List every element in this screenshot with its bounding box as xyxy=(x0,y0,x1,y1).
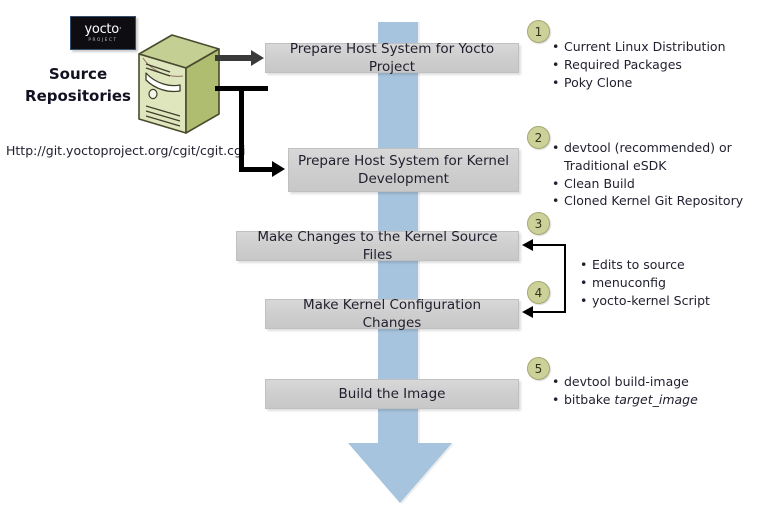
step-number-5: 5 xyxy=(527,357,550,380)
note-item: Poky Clone xyxy=(552,74,762,92)
feedback-vertical xyxy=(564,244,566,313)
step-number-2: 2 xyxy=(527,126,550,149)
note-item: Current Linux Distribution xyxy=(552,38,762,56)
note-item: bitbake target_image xyxy=(552,391,752,409)
step-label-1: Prepare Host System for Yocto Project xyxy=(274,40,510,76)
step-label-5: Build the Image xyxy=(339,385,446,403)
step-label-3: Make Changes to the Kernel Source Files xyxy=(245,228,510,264)
step-label-2: Prepare Host System for Kernel Developme… xyxy=(297,152,510,188)
step-number-1: 1 xyxy=(527,20,550,43)
step-box-5[interactable]: Build the Image xyxy=(265,379,519,409)
notes-step-2: devtool (recommended) or Traditional eSD… xyxy=(552,139,764,210)
note-item: Clean Build xyxy=(552,175,764,193)
note-command-arg: target_image xyxy=(614,392,697,407)
source-repositories-url: Http://git.yoctoproject.org/cgit/cgit.cg… xyxy=(6,143,245,158)
arrowhead-server-to-step2 xyxy=(272,161,285,177)
feedback-top-horizontal xyxy=(532,244,566,246)
flow-arrow-head xyxy=(348,443,452,503)
step-number-4: 4 xyxy=(527,281,550,304)
diagram-canvas: yocto· PROJECT Source Repositories Http:… xyxy=(0,0,769,517)
source-repositories-label: Source Repositories xyxy=(18,64,138,108)
step-number-3: 3 xyxy=(527,212,550,235)
yocto-project-logo: yocto· PROJECT xyxy=(70,16,136,50)
yocto-logo-word: yocto· xyxy=(85,23,122,36)
note-item: devtool (recommended) or Traditional eSD… xyxy=(552,139,764,175)
note-item: Edits to source xyxy=(580,256,760,274)
note-item: menuconfig xyxy=(580,274,760,292)
step-label-4: Make Kernel Configuration Changes xyxy=(274,296,510,332)
arrowhead-feedback-to-step4 xyxy=(522,306,533,318)
note-item: yocto-kernel Script xyxy=(580,292,760,310)
step-box-1[interactable]: Prepare Host System for Yocto Project xyxy=(265,43,519,73)
connector-server-to-step2-entry xyxy=(239,167,275,172)
server-icon xyxy=(136,32,222,136)
step-box-3[interactable]: Make Changes to the Kernel Source Files xyxy=(236,231,519,261)
yocto-logo-dot: · xyxy=(119,24,122,34)
note-item: Required Packages xyxy=(552,56,762,74)
connector-server-to-step2-vertical xyxy=(239,86,244,171)
note-item: Cloned Kernel Git Repository xyxy=(552,192,764,210)
connector-server-to-step1 xyxy=(215,55,252,61)
notes-steps-3-and-4: Edits to source menuconfig yocto-kernel … xyxy=(580,256,760,309)
note-item: devtool build-image xyxy=(552,373,752,391)
notes-step-1: Current Linux Distribution Required Pack… xyxy=(552,38,762,91)
step-box-2[interactable]: Prepare Host System for Kernel Developme… xyxy=(288,148,519,192)
arrowhead-server-to-step1 xyxy=(251,50,264,66)
notes-step-5: devtool build-image bitbake target_image xyxy=(552,373,752,409)
note-command-prefix: bitbake xyxy=(564,392,614,407)
yocto-logo-subtitle: PROJECT xyxy=(88,38,117,42)
feedback-bottom-horizontal xyxy=(532,311,566,313)
arrowhead-feedback-to-step3 xyxy=(522,239,533,251)
step-box-4[interactable]: Make Kernel Configuration Changes xyxy=(265,299,519,329)
